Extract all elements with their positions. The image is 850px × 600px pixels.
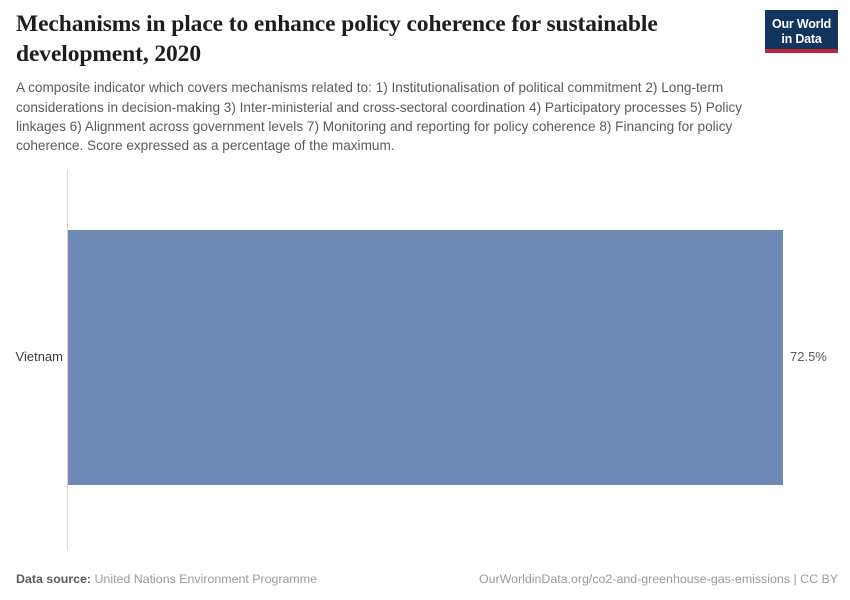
chart-container: Mechanisms in place to enhance policy co… (0, 0, 850, 600)
data-source-value: United Nations Environment Programme (95, 572, 317, 586)
owid-logo-accent-bar (765, 49, 838, 53)
owid-logo-line-1: Our World (772, 17, 831, 32)
data-source-label: Data source: (16, 572, 91, 586)
owid-logo-line-2: in Data (781, 32, 821, 47)
chart-header: Mechanisms in place to enhance policy co… (16, 10, 756, 155)
chart-footer: Data source: United Nations Environment … (16, 572, 838, 586)
attribution-link[interactable]: OurWorldinData.org/co2-and-greenhouse-ga… (479, 572, 838, 586)
bar-value-label-vietnam: 72.5% (790, 348, 827, 366)
y-axis-line (67, 170, 68, 550)
page-title: Mechanisms in place to enhance policy co… (16, 10, 676, 69)
bar-vietnam[interactable] (68, 230, 783, 485)
data-source: Data source: United Nations Environment … (16, 572, 317, 586)
bar-category-label-vietnam: Vietnam (0, 348, 63, 366)
owid-logo[interactable]: Our World in Data (765, 10, 838, 53)
chart-subtitle: A composite indicator which covers mecha… (16, 78, 756, 155)
